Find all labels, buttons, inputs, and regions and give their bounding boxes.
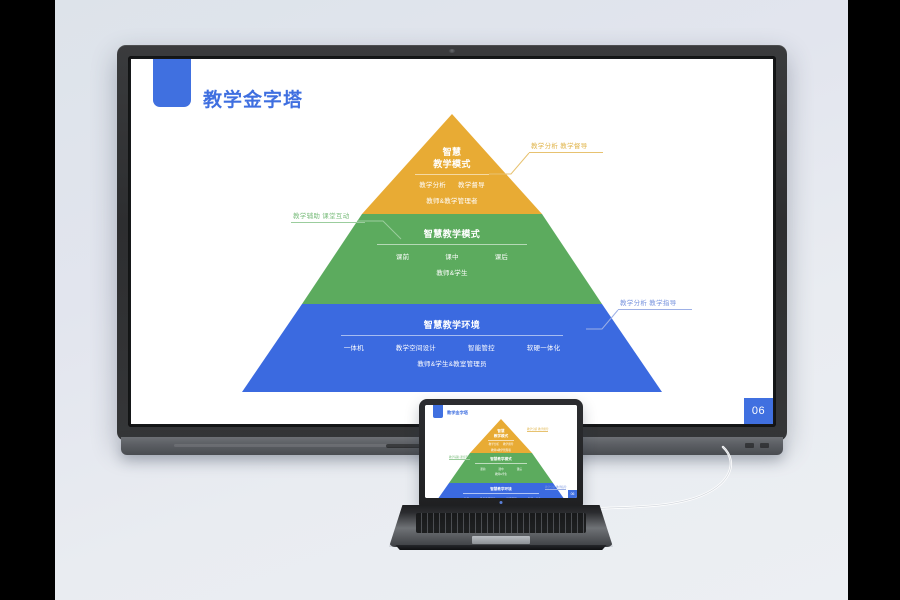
title-accent-tab bbox=[153, 59, 191, 107]
camera-icon bbox=[449, 49, 456, 53]
mini-tier-middle-col-1: 课中 bbox=[498, 467, 503, 471]
screenshot-stage: 教学金字塔 智慧 教学模式 bbox=[0, 0, 900, 600]
page-title: 教学金字塔 bbox=[203, 85, 303, 112]
callout-middle-left-leader bbox=[357, 211, 417, 241]
mini-callout-bottom-right: 教学分析 教学指导 bbox=[545, 485, 566, 490]
callout-middle-left[interactable]: 教学辅助 课堂互动 bbox=[291, 210, 365, 223]
pyramid-tier-middle[interactable]: 智慧教学模式 课前 课中 课后 教师&学生 bbox=[302, 214, 602, 304]
callout-bottom-right-label: 教学分析 教学指导 bbox=[618, 297, 679, 309]
laptop-lid: 教学金字塔 智慧 教学模式 bbox=[419, 399, 583, 507]
mini-pyramid-diagram: 智慧 教学模式 教学分析 教学督导 教师&教学管理者 bbox=[425, 419, 577, 494]
mini-tier-middle-col-0: 课前 bbox=[480, 467, 485, 471]
laptop-screen[interactable]: 教学金字塔 智慧 教学模式 bbox=[425, 405, 577, 498]
mini-tier-bottom-col-2: 智能管控 bbox=[507, 497, 517, 498]
pyramid-diagram: 智慧 教学模式 教学分析 教学督导 教师&教学管理者 bbox=[131, 114, 773, 394]
laptop-slide-canvas: 教学金字塔 智慧 教学模式 bbox=[425, 405, 577, 498]
mini-tier-top-heading-2: 教学模式 bbox=[470, 434, 532, 439]
interactive-flat-panel[interactable]: 教学金字塔 智慧 教学模式 bbox=[117, 45, 787, 441]
mini-tier-top-col-0: 教学分析 bbox=[489, 442, 499, 446]
laptop[interactable]: 教学金字塔 智慧 教学模式 bbox=[389, 399, 613, 565]
product-photo: 教学金字塔 智慧 教学模式 bbox=[55, 0, 848, 600]
callout-top-right-leader bbox=[489, 152, 563, 178]
page-number-badge: 06 bbox=[744, 398, 773, 424]
mini-callout-middle-left: 教学辅助 课堂互动 bbox=[449, 455, 470, 460]
display-bezel: 教学金字塔 智慧 教学模式 bbox=[117, 45, 787, 441]
mini-tier-bottom-col-1: 教学空间设计 bbox=[480, 497, 496, 498]
laptop-trackpad[interactable] bbox=[472, 536, 530, 544]
mini-page-number-badge: 06 bbox=[568, 490, 577, 498]
laptop-base bbox=[389, 505, 613, 547]
mini-tier-bottom-col-0: 一体机 bbox=[461, 497, 469, 498]
mini-page-title: 教学金字塔 bbox=[447, 410, 468, 416]
mini-tier-top-col-1: 教学督导 bbox=[503, 442, 513, 446]
mini-tier-middle-subtitle: 教师&学生 bbox=[449, 472, 553, 476]
laptop-keyboard[interactable] bbox=[416, 513, 586, 533]
mini-tier-bottom-col-3: 软硬一体化 bbox=[528, 497, 541, 498]
laptop-logo-icon bbox=[500, 501, 503, 504]
slide-canvas: 教学金字塔 智慧 教学模式 bbox=[131, 59, 773, 424]
display-control-buttons[interactable] bbox=[745, 443, 769, 448]
mini-tier-middle-col-2: 课后 bbox=[517, 467, 522, 471]
mini-tier-top-subtitle: 教师&教学管理者 bbox=[470, 448, 532, 452]
callout-bottom-right-leader bbox=[586, 309, 646, 335]
mini-tier-top: 智慧 教学模式 教学分析 教学督导 教师&教学管理者 bbox=[470, 419, 532, 454]
mini-title-accent-tab bbox=[433, 405, 443, 418]
display-screen[interactable]: 教学金字塔 智慧 教学模式 bbox=[131, 59, 773, 424]
laptop-front-edge bbox=[391, 545, 611, 550]
callout-bottom-right[interactable]: 教学分析 教学指导 bbox=[618, 297, 692, 310]
callout-top-right-label: 教学分析 教学督导 bbox=[529, 140, 590, 152]
mini-callout-top-right: 教学分析 教学督导 bbox=[527, 427, 548, 432]
callout-middle-left-label: 教学辅助 课堂互动 bbox=[291, 210, 352, 222]
callout-top-right[interactable]: 教学分析 教学督导 bbox=[529, 140, 603, 153]
